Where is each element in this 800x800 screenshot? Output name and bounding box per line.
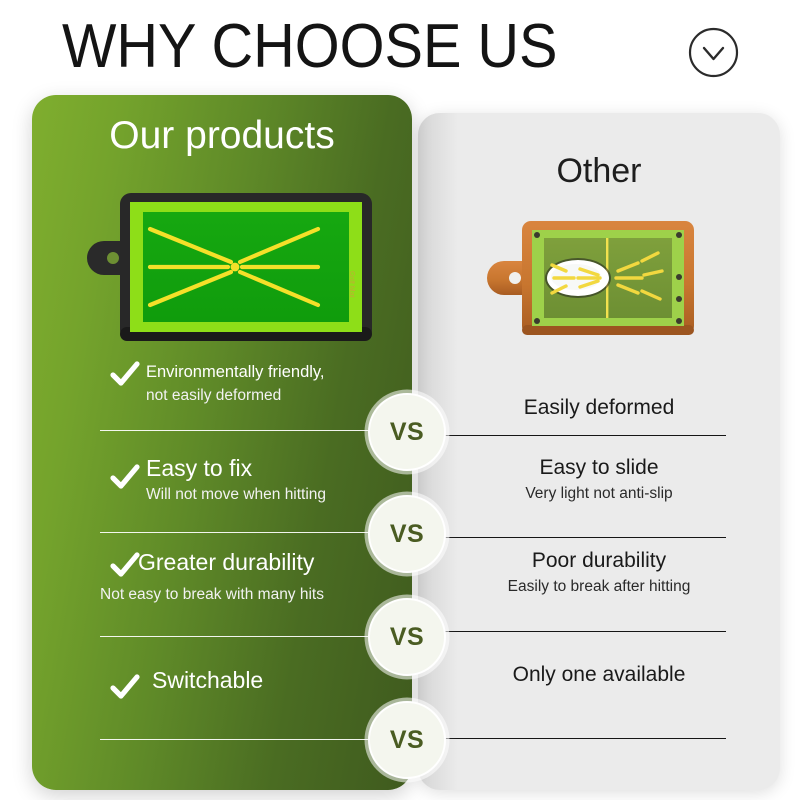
other-mat-svg	[474, 205, 704, 350]
other-feature-title: Only one available	[418, 661, 780, 689]
our-feature-sub: not easily deformed	[146, 384, 404, 408]
our-divider	[100, 739, 390, 740]
our-divider	[100, 430, 390, 431]
vs-label: VS	[390, 728, 424, 753]
svg-text:Golf Mat: Golf Mat	[348, 271, 355, 298]
our-product-image: Golf Mat	[84, 167, 384, 347]
vs-badge: VS	[368, 598, 446, 676]
check-icon	[110, 673, 140, 703]
other-divider	[444, 738, 726, 739]
other-feature-title: Poor durability	[418, 547, 780, 575]
other-divider	[444, 435, 726, 436]
our-heading: Our products	[32, 113, 412, 159]
our-mat-svg: Golf Mat	[84, 167, 384, 347]
check-icon	[110, 463, 140, 493]
other-divider	[444, 537, 726, 538]
vs-badge: VS	[368, 495, 446, 573]
other-feature-row: Poor durability Easily to break after hi…	[418, 547, 780, 599]
other-feature-row: Only one available	[418, 661, 780, 689]
our-feature-title: Environmentally friendly,	[146, 360, 404, 384]
vs-badge: VS	[368, 701, 446, 779]
other-product-card: Other	[418, 113, 780, 790]
our-divider	[100, 532, 390, 533]
other-feature-row: Easily deformed	[418, 394, 780, 422]
other-feature-title: Easy to slide	[418, 454, 780, 482]
vs-badge: VS	[368, 393, 446, 471]
our-feature-sub-wrap: Not easy to break with many hits	[100, 583, 400, 607]
other-feature-row: Easy to slide Very light not anti-slip	[418, 454, 780, 506]
our-feature-title: Greater durability	[138, 547, 396, 577]
vs-label: VS	[390, 522, 424, 547]
other-feature-title: Easily deformed	[418, 394, 780, 422]
our-feature-texts: Switchable	[152, 665, 410, 695]
vs-label: VS	[390, 420, 424, 445]
our-feature-sub: Will not move when hitting	[146, 483, 404, 507]
our-feature-texts: Greater durability	[138, 547, 396, 577]
our-feature-sub: Not easy to break with many hits	[100, 583, 400, 607]
other-feature-sub: Easily to break after hitting	[418, 575, 780, 599]
our-divider	[100, 636, 390, 637]
our-feature-texts: Easy to fix Will not move when hitting	[146, 453, 404, 507]
vs-label: VS	[390, 625, 424, 650]
other-divider	[444, 631, 726, 632]
our-product-card: Our products	[32, 95, 412, 790]
other-heading: Other	[418, 150, 780, 192]
our-feature-texts: Environmentally friendly, not easily def…	[146, 360, 404, 408]
our-feature-title: Easy to fix	[146, 453, 404, 483]
other-product-image	[474, 205, 704, 350]
our-feature-title: Switchable	[152, 665, 410, 695]
check-icon	[110, 551, 140, 581]
check-icon	[110, 360, 140, 390]
comparison-section: Other	[0, 0, 800, 800]
other-feature-sub: Very light not anti-slip	[418, 482, 780, 506]
